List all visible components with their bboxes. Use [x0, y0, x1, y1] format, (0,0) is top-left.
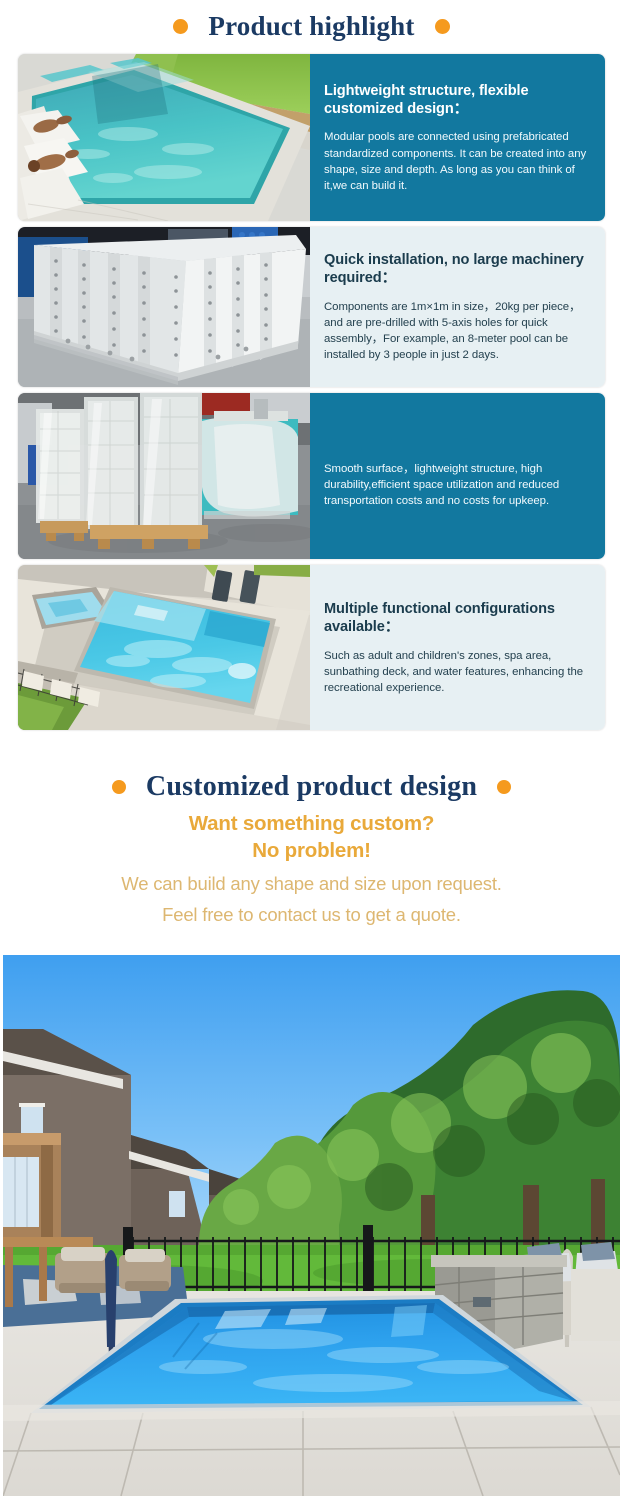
card-heading: Quick installation, no large machinery r… — [324, 252, 589, 288]
highlight-card: Quick installation, no large machinery r… — [18, 227, 605, 387]
card-text-panel: Smooth surface，lightweight structure, hi… — [310, 393, 605, 559]
section-title-text: Product highlight — [208, 11, 414, 42]
promo-line-1: Want something custom? — [20, 810, 603, 837]
card-photo-packaged-pallets — [18, 393, 310, 559]
bullet-dot-icon — [173, 19, 188, 34]
highlight-card: Smooth surface，lightweight structure, hi… — [18, 393, 605, 559]
card-text-panel: Lightweight structure, flexible customiz… — [310, 54, 605, 221]
promo-line-4: Feel free to contact us to get a quote. — [20, 903, 603, 927]
card-body: Smooth surface，lightweight structure, hi… — [324, 461, 589, 510]
highlight-card-list: Lightweight structure, flexible customiz… — [0, 52, 623, 730]
product-detail-page: Product highlight — [0, 0, 623, 1500]
highlight-card: Multiple functional configurations avail… — [18, 565, 605, 730]
card-photo-modular-pool — [18, 54, 310, 221]
bullet-dot-icon — [435, 19, 450, 34]
section-heading-product-highlight: Product highlight — [0, 0, 623, 52]
promo-line-3: We can build any shape and size upon req… — [20, 872, 603, 896]
bullet-dot-icon — [112, 780, 126, 794]
card-heading: Multiple functional configurations avail… — [324, 601, 589, 637]
card-text-panel: Multiple functional configurations avail… — [310, 565, 605, 730]
custom-promo-text: Want something custom? No problem! We ca… — [0, 810, 623, 928]
highlight-card: Lightweight structure, flexible customiz… — [18, 54, 605, 221]
card-heading: Lightweight structure, flexible customiz… — [324, 83, 589, 119]
card-body: Modular pools are connected using prefab… — [324, 129, 589, 194]
section-heading-customized-design: Customized product design — [0, 764, 623, 810]
bullet-dot-icon — [497, 780, 511, 794]
card-body: Components are 1m×1m in size，20kg per pi… — [324, 299, 589, 364]
card-photo-aerial-pool — [18, 565, 310, 730]
section-title-text: Customized product design — [146, 771, 477, 803]
card-body: Such as adult and children's zones, spa … — [324, 648, 589, 697]
promo-line-2: No problem! — [20, 837, 603, 864]
card-text-panel: Quick installation, no large machinery r… — [310, 227, 605, 387]
card-photo-modular-panels — [18, 227, 310, 387]
hero-photo-backyard-pool — [3, 955, 620, 1496]
